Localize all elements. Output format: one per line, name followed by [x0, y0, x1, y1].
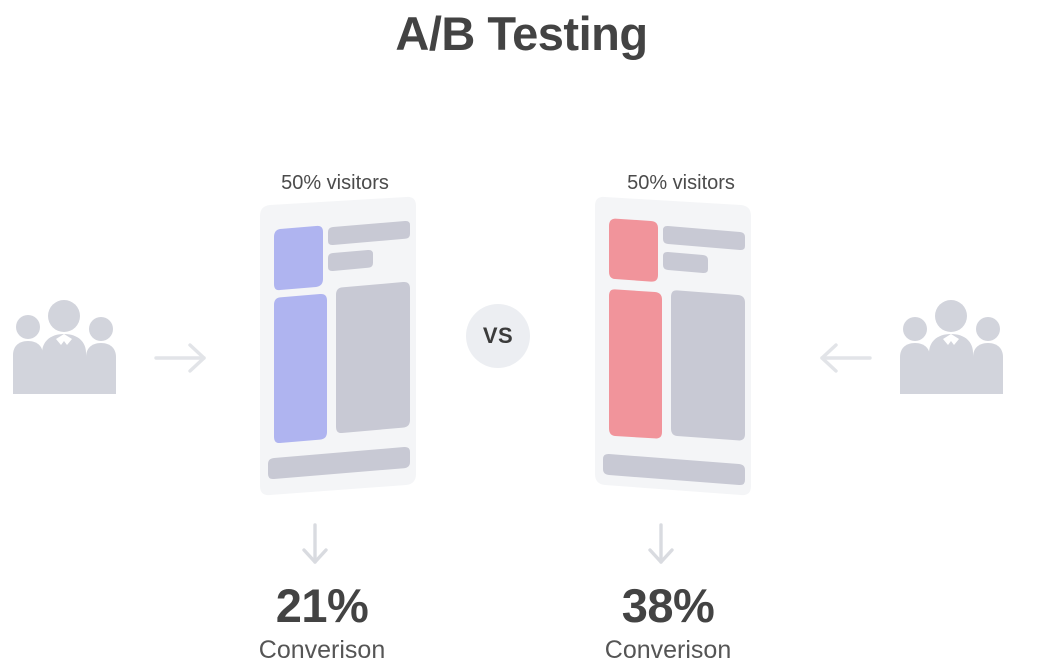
- variation-a-result: 21% Converison: [232, 580, 412, 666]
- variation-a-caption-line1: 50% visitors: [232, 168, 438, 198]
- variation-a-mockup[interactable]: [248, 196, 418, 501]
- visitors-group-left-icon: [6, 296, 136, 394]
- variation-b-conversion-pct: 38%: [578, 580, 758, 632]
- variation-b-conversion-label: Converison: [578, 634, 758, 666]
- vs-badge: VS: [466, 304, 530, 368]
- page-title: A/B Testing: [0, 6, 1043, 61]
- variation-b-mockup[interactable]: [593, 196, 763, 501]
- visitors-group-right-icon: [893, 296, 1023, 394]
- variation-a-conversion-label: Converison: [232, 634, 412, 666]
- arrow-down-a-icon: [295, 520, 335, 570]
- vs-badge-label: VS: [483, 323, 513, 349]
- variation-b-result: 38% Converison: [578, 580, 758, 666]
- variation-a-conversion-pct: 21%: [232, 580, 412, 632]
- arrow-down-b-icon: [641, 520, 681, 570]
- variation-b-caption-line1: 50% visitors: [578, 168, 784, 198]
- arrow-left-icon: [812, 338, 876, 378]
- arrow-right-icon: [150, 338, 214, 378]
